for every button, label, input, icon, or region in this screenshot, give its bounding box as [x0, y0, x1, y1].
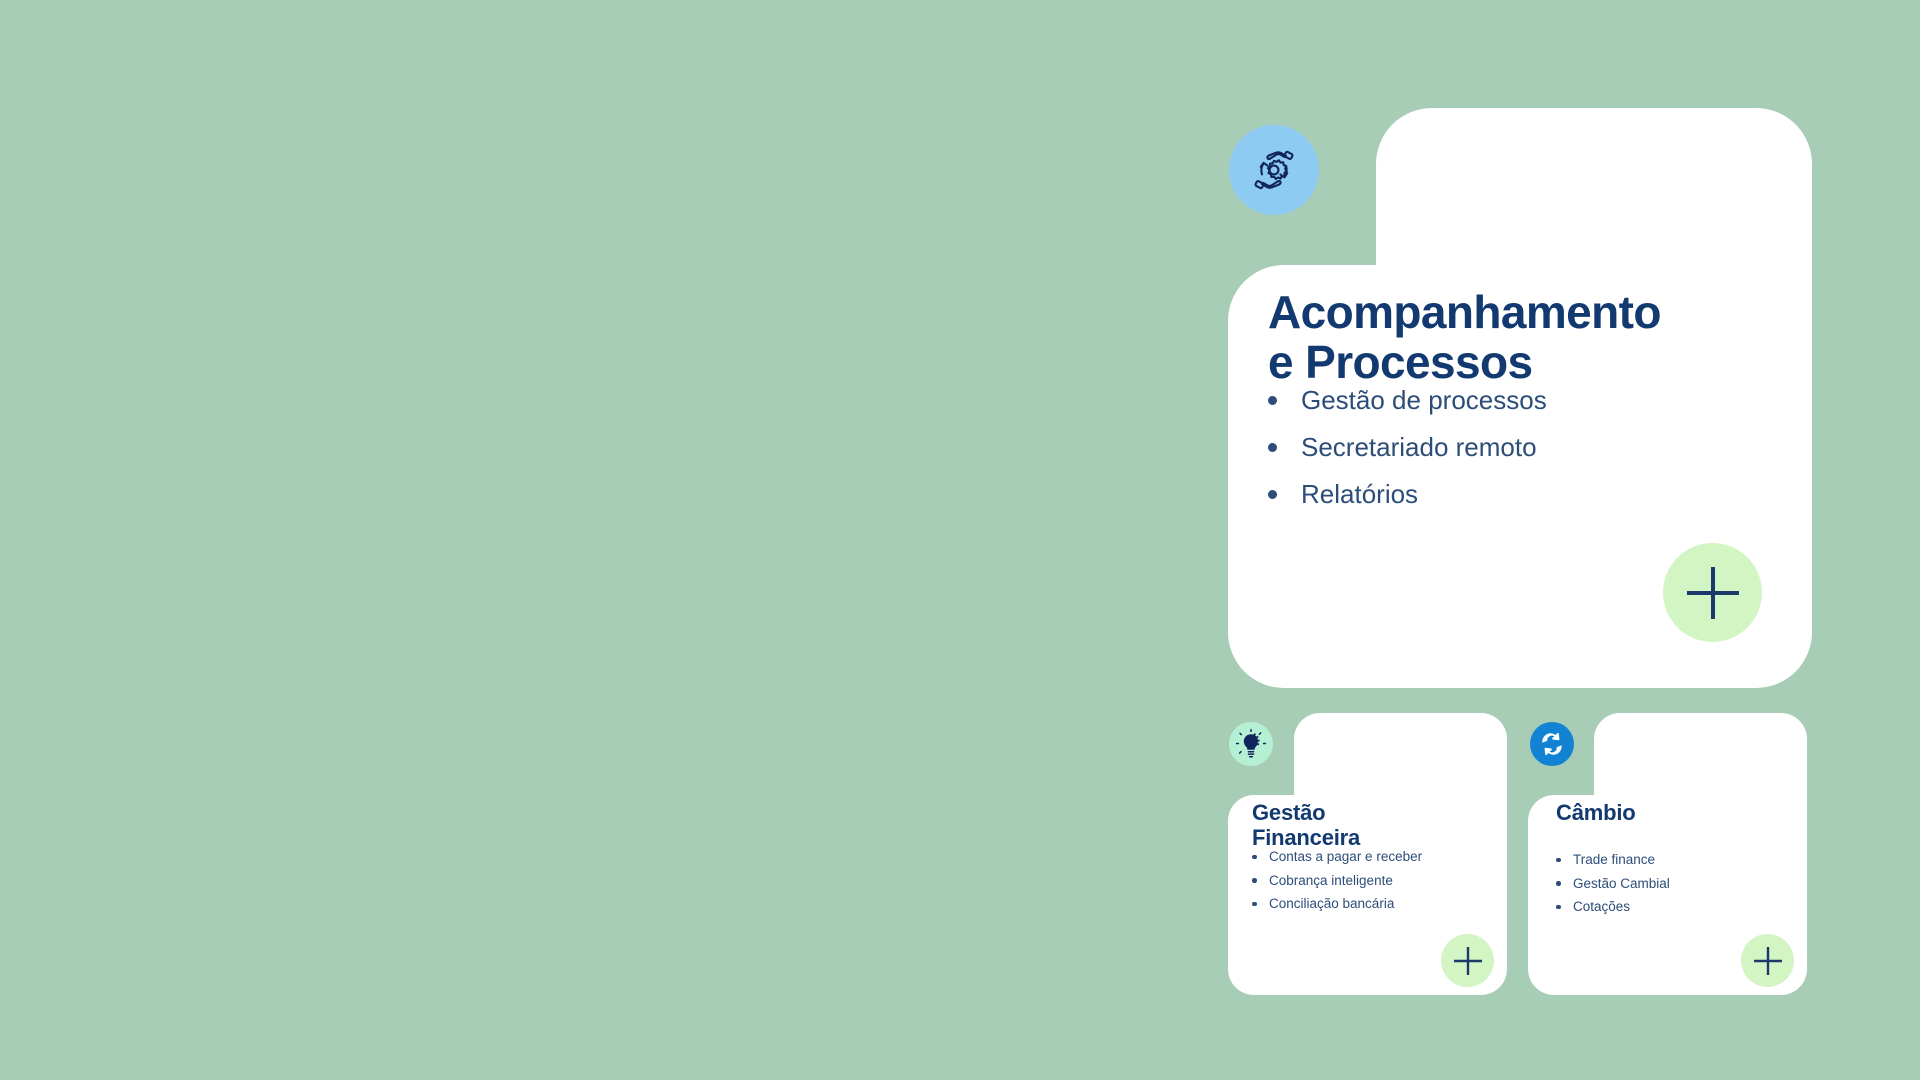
list-item: Contas a pagar e receber: [1252, 850, 1492, 864]
plus-icon: [1751, 944, 1785, 978]
card-fin-title-line-1: Gestão: [1252, 800, 1325, 825]
card-fin-title-line-2: Financeira: [1252, 825, 1360, 850]
page-title-line-1: Acompanhamento: [1268, 286, 1661, 338]
card-cam-panel-top-fill: [1594, 739, 1807, 803]
card-main-content: Acompanhamentoe Processos Gestão de proc…: [1268, 288, 1788, 528]
card-fin-content: GestãoFinanceira Contas a pagar e recebe…: [1252, 800, 1492, 921]
list-item: Cobrança inteligente: [1252, 874, 1492, 888]
page-canvas: Acompanhamentoe Processos Gestão de proc…: [0, 0, 1920, 1080]
card-cam-title: Câmbio: [1556, 800, 1796, 825]
expand-button-gestao-financeira[interactable]: [1441, 934, 1494, 987]
card-fin-bullet-list: Contas a pagar e receber Cobrança inteli…: [1252, 850, 1492, 911]
page-title: Acompanhamentoe Processos: [1268, 288, 1788, 387]
page-title-line-2: e Processos: [1268, 336, 1532, 388]
list-item: Relatórios: [1268, 481, 1788, 507]
list-item: Cotações: [1556, 900, 1796, 914]
card-cam-content: Câmbio Trade finance Gestão Cambial Cota…: [1556, 800, 1796, 924]
list-item: Gestão Cambial: [1556, 877, 1796, 891]
card-cam-bullet-list: Trade finance Gestão Cambial Cotações: [1556, 853, 1796, 914]
card-fin-panel-top-fill: [1294, 739, 1507, 803]
expand-button-cambio[interactable]: [1741, 934, 1794, 987]
card-fin-title: GestãoFinanceira: [1252, 800, 1492, 850]
list-item: Gestão de processos: [1268, 387, 1788, 413]
plus-icon: [1682, 562, 1744, 624]
exchange-arrows-icon: [1530, 722, 1574, 766]
card-main-panel-top-fill: [1376, 164, 1812, 278]
expand-button-acompanhamento[interactable]: [1663, 543, 1762, 642]
hands-gear-icon: [1229, 125, 1319, 215]
list-item: Trade finance: [1556, 853, 1796, 867]
list-item: Conciliação bancária: [1252, 897, 1492, 911]
card-main-bullet-list: Gestão de processos Secretariado remoto …: [1268, 387, 1788, 507]
list-item: Secretariado remoto: [1268, 434, 1788, 460]
lightbulb-gear-icon: [1229, 722, 1273, 766]
plus-icon: [1451, 944, 1485, 978]
